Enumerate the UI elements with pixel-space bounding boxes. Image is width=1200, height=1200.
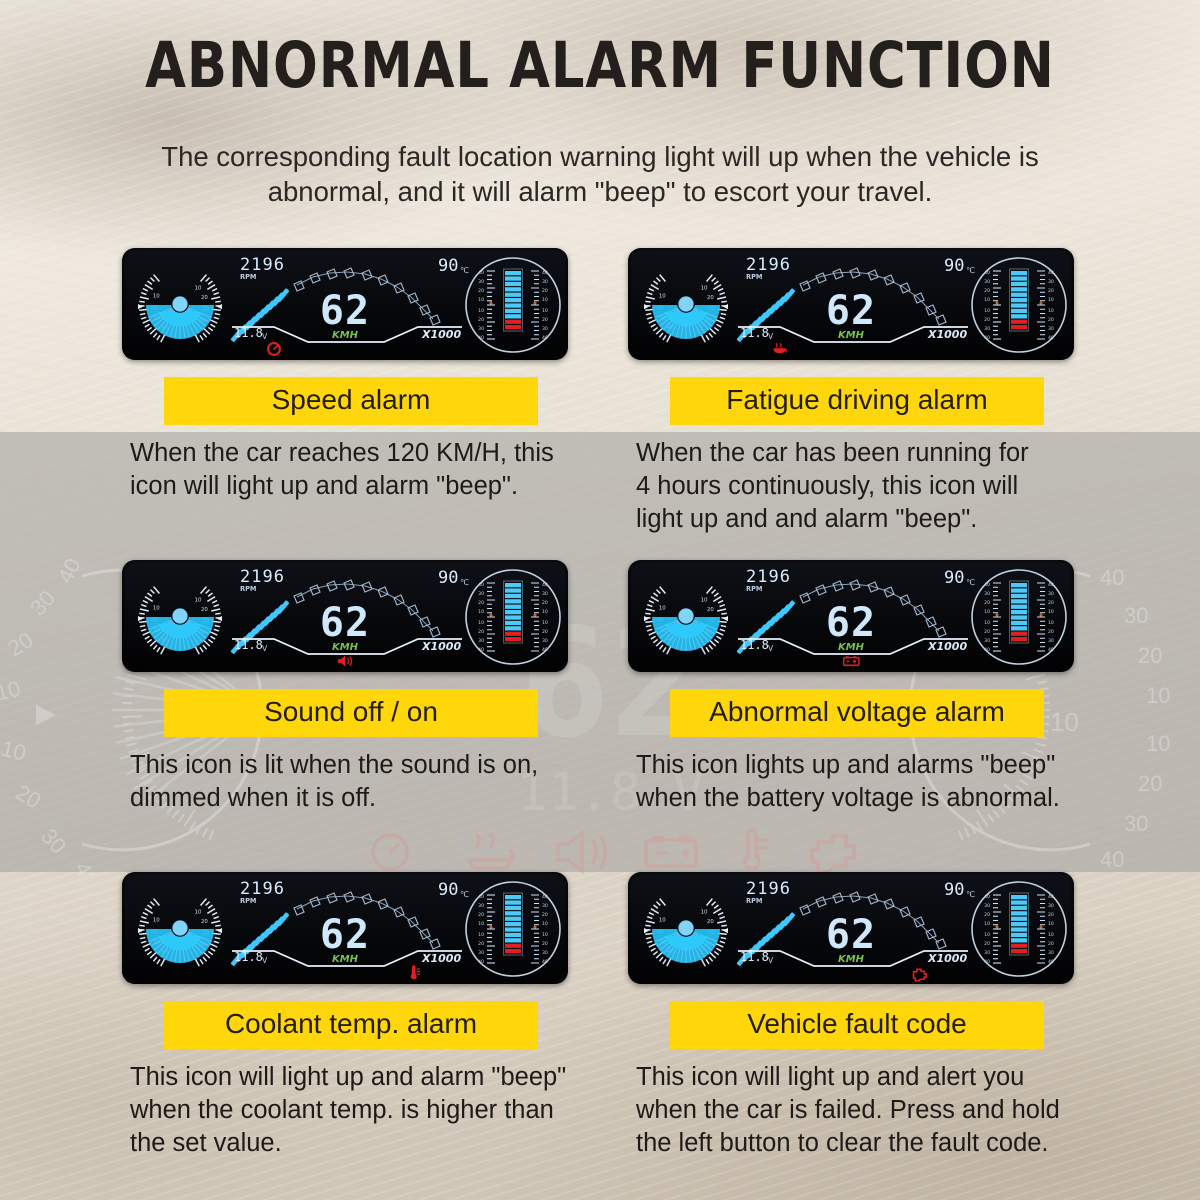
- svg-text:20: 20: [3, 627, 37, 661]
- svg-text:10: 10: [478, 609, 484, 615]
- hud-display-abnormal-voltage-alarm: 4030201010203040 40403030202010101010202…: [628, 560, 1074, 672]
- svg-text:30: 30: [478, 638, 484, 644]
- svg-text:30: 30: [984, 326, 990, 332]
- feature-caption-speed-alarm: When the car reaches 120 KM/H, this icon…: [130, 437, 592, 503]
- svg-text:40: 40: [984, 647, 990, 653]
- svg-text:20: 20: [1048, 288, 1054, 294]
- page-title: ABNORMAL ALARM FUNCTION: [42, 34, 1158, 97]
- svg-text:10: 10: [0, 736, 29, 766]
- svg-text:40: 40: [1100, 847, 1124, 872]
- svg-text:30: 30: [1048, 326, 1054, 332]
- svg-text:20: 20: [1138, 771, 1162, 796]
- hud-display-speed-alarm: 4030201010203040 40403030202010101010202…: [122, 248, 568, 360]
- svg-text:20: 20: [984, 317, 990, 323]
- svg-text:2196: 2196: [746, 879, 791, 899]
- infographic-page: 40 30 20 10 10 20 30 40 40 30 20 10 10 2…: [0, 0, 1200, 1200]
- page-subtitle: The corresponding fault location warning…: [110, 140, 1090, 209]
- svg-text:40: 40: [70, 858, 104, 875]
- svg-text:20: 20: [542, 912, 548, 918]
- svg-text:40: 40: [542, 582, 548, 588]
- feature-caption-abnormal-voltage-alarm: This icon lights up and alarms "beep" wh…: [636, 749, 1098, 815]
- svg-text:40: 40: [1048, 647, 1054, 653]
- svg-text:RPM: RPM: [240, 585, 256, 593]
- svg-text:40: 40: [1048, 894, 1054, 900]
- feature-label-speed-alarm: Speed alarm: [164, 377, 538, 425]
- svg-text:20: 20: [478, 317, 484, 323]
- hud-graphic: 4030201010203040 40403030202010101010202…: [122, 872, 568, 984]
- svg-text:10: 10: [701, 909, 708, 915]
- svg-text:10: 10: [1048, 308, 1054, 314]
- hud-display-sound-off-on: 4030201010203040 40403030202010101010202…: [122, 560, 568, 672]
- svg-text:30: 30: [542, 279, 548, 285]
- svg-text:X1000: X1000: [927, 328, 967, 341]
- svg-text:10: 10: [153, 293, 160, 299]
- hud-display-coolant-temp-alarm: 4030201010203040 40403030202010101010202…: [122, 872, 568, 984]
- feature-caption-sound-off-on: This icon is lit when the sound is on, d…: [130, 749, 592, 815]
- svg-text:10: 10: [478, 921, 484, 927]
- svg-text:20: 20: [201, 295, 208, 301]
- svg-text:V: V: [768, 332, 774, 341]
- svg-text:20: 20: [1048, 941, 1054, 947]
- svg-text:30: 30: [478, 591, 484, 597]
- svg-text:10: 10: [542, 609, 548, 615]
- svg-text:KMH: KMH: [332, 330, 359, 341]
- svg-text:10: 10: [984, 921, 990, 927]
- svg-text:V: V: [262, 956, 268, 965]
- svg-text:20: 20: [542, 600, 548, 606]
- hud-graphic: 4030201010203040 40403030202010101010202…: [628, 560, 1074, 672]
- svg-text:2196: 2196: [240, 255, 285, 275]
- svg-text:RPM: RPM: [746, 897, 762, 905]
- svg-text:20: 20: [542, 941, 548, 947]
- hud-display-fatigue-driving-alarm: 4030201010203040 40403030202010101010202…: [628, 248, 1074, 360]
- svg-text:30: 30: [542, 591, 548, 597]
- svg-text:10: 10: [659, 917, 666, 923]
- svg-text:10: 10: [659, 605, 666, 611]
- hud-graphic: 4030201010203040 40403030202010101010202…: [628, 872, 1074, 984]
- svg-text:10: 10: [0, 676, 23, 706]
- svg-text:30: 30: [25, 585, 60, 620]
- svg-text:40: 40: [478, 582, 484, 588]
- svg-text:KMH: KMH: [838, 330, 865, 341]
- hud-graphic: 4030201010203040 40403030202010101010202…: [628, 248, 1074, 360]
- svg-text:40: 40: [542, 894, 548, 900]
- svg-text:11.8: 11.8: [234, 638, 263, 652]
- svg-text:40: 40: [984, 894, 990, 900]
- feature-card-speed-alarm: 4030201010203040 40403030202010101010202…: [122, 248, 622, 503]
- svg-text:KMH: KMH: [332, 642, 359, 653]
- svg-text:20: 20: [12, 780, 46, 814]
- svg-text:10: 10: [542, 308, 548, 314]
- svg-text:2196: 2196: [240, 567, 285, 587]
- svg-text:10: 10: [542, 620, 548, 626]
- svg-text:30: 30: [984, 638, 990, 644]
- hud-graphic: 4030201010203040 40403030202010101010202…: [122, 560, 568, 672]
- svg-text:30: 30: [984, 279, 990, 285]
- svg-text:40: 40: [1048, 335, 1054, 341]
- svg-text:20: 20: [478, 288, 484, 294]
- svg-text:62: 62: [320, 912, 370, 958]
- feature-label-fatigue-driving-alarm: Fatigue driving alarm: [670, 377, 1044, 425]
- svg-text:40: 40: [984, 335, 990, 341]
- svg-text:KMH: KMH: [838, 642, 865, 653]
- svg-text:℃: ℃: [460, 578, 469, 587]
- svg-text:℃: ℃: [460, 890, 469, 899]
- svg-text:10: 10: [984, 932, 990, 938]
- svg-text:40: 40: [542, 959, 548, 965]
- svg-text:10: 10: [984, 620, 990, 626]
- svg-text:40: 40: [1048, 582, 1054, 588]
- svg-text:20: 20: [984, 629, 990, 635]
- svg-text:10: 10: [701, 285, 708, 291]
- svg-text:20: 20: [478, 912, 484, 918]
- svg-text:2196: 2196: [746, 567, 791, 587]
- svg-text:10: 10: [984, 297, 990, 303]
- svg-text:RPM: RPM: [746, 585, 762, 593]
- svg-text:V: V: [262, 644, 268, 653]
- feature-card-abnormal-voltage-alarm: 4030201010203040 40403030202010101010202…: [628, 560, 1128, 815]
- feature-card-sound-off-on: 4030201010203040 40403030202010101010202…: [122, 560, 622, 815]
- warning-icons-watermark: [360, 826, 908, 878]
- svg-text:V: V: [262, 332, 268, 341]
- svg-text:30: 30: [1048, 638, 1054, 644]
- svg-text:30: 30: [1048, 591, 1054, 597]
- svg-text:30: 30: [478, 326, 484, 332]
- svg-text:℃: ℃: [966, 890, 975, 899]
- svg-text:20: 20: [984, 600, 990, 606]
- svg-text:62: 62: [320, 600, 370, 646]
- svg-text:X1000: X1000: [927, 952, 967, 965]
- svg-text:2196: 2196: [746, 255, 791, 275]
- svg-text:20: 20: [201, 607, 208, 613]
- svg-text:40: 40: [1048, 270, 1054, 276]
- svg-text:10: 10: [984, 609, 990, 615]
- svg-text:RPM: RPM: [746, 273, 762, 281]
- svg-text:10: 10: [1048, 609, 1054, 615]
- svg-text:10: 10: [478, 308, 484, 314]
- hud-display-vehicle-fault-code: 4030201010203040 40403030202010101010202…: [628, 872, 1074, 984]
- feature-label-coolant-temp-alarm: Coolant temp. alarm: [164, 1001, 538, 1049]
- svg-text:20: 20: [1048, 629, 1054, 635]
- svg-text:30: 30: [542, 326, 548, 332]
- svg-text:KMH: KMH: [332, 954, 359, 965]
- svg-text:20: 20: [1048, 317, 1054, 323]
- svg-text:40: 40: [52, 554, 86, 587]
- svg-text:RPM: RPM: [240, 897, 256, 905]
- svg-text:90: 90: [438, 256, 458, 276]
- svg-text:40: 40: [542, 335, 548, 341]
- svg-text:10: 10: [153, 917, 160, 923]
- svg-text:30: 30: [984, 591, 990, 597]
- svg-text:10: 10: [659, 293, 666, 299]
- svg-text:10: 10: [195, 909, 202, 915]
- svg-text:20: 20: [542, 629, 548, 635]
- svg-text:10: 10: [478, 620, 484, 626]
- svg-text:V: V: [768, 956, 774, 965]
- feature-caption-vehicle-fault-code: This icon will light up and alert you wh…: [636, 1061, 1098, 1160]
- svg-text:30: 30: [478, 279, 484, 285]
- feature-caption-coolant-temp-alarm: This icon will light up and alarm "beep"…: [130, 1061, 592, 1160]
- svg-text:90: 90: [438, 880, 458, 900]
- feature-label-abnormal-voltage-alarm: Abnormal voltage alarm: [670, 689, 1044, 737]
- svg-text:20: 20: [478, 629, 484, 635]
- svg-text:11.8: 11.8: [234, 950, 263, 964]
- svg-text:10: 10: [195, 597, 202, 603]
- svg-text:℃: ℃: [460, 266, 469, 275]
- svg-text:10: 10: [1146, 683, 1170, 708]
- svg-text:40: 40: [542, 647, 548, 653]
- svg-text:X1000: X1000: [421, 328, 461, 341]
- svg-text:10: 10: [1048, 921, 1054, 927]
- svg-text:20: 20: [478, 600, 484, 606]
- svg-text:V: V: [768, 644, 774, 653]
- svg-text:11.8: 11.8: [740, 638, 769, 652]
- feature-caption-fatigue-driving-alarm: When the car has been running for 4 hour…: [636, 437, 1098, 536]
- svg-text:90: 90: [944, 568, 964, 588]
- svg-text:30: 30: [984, 903, 990, 909]
- svg-text:62: 62: [826, 912, 876, 958]
- svg-text:20: 20: [984, 912, 990, 918]
- svg-text:20: 20: [542, 288, 548, 294]
- svg-text:20: 20: [201, 919, 208, 925]
- svg-text:40: 40: [542, 270, 548, 276]
- feature-label-sound-off-on: Sound off / on: [164, 689, 538, 737]
- svg-text:20: 20: [1048, 912, 1054, 918]
- svg-text:10: 10: [542, 297, 548, 303]
- svg-text:RPM: RPM: [240, 273, 256, 281]
- svg-text:40: 40: [984, 959, 990, 965]
- svg-text:40: 40: [478, 894, 484, 900]
- svg-text:10: 10: [701, 597, 708, 603]
- svg-text:10: 10: [984, 308, 990, 314]
- svg-text:KMH: KMH: [838, 954, 865, 965]
- feature-card-coolant-temp-alarm: 4030201010203040 40403030202010101010202…: [122, 872, 622, 1160]
- svg-text:20: 20: [1048, 600, 1054, 606]
- svg-text:90: 90: [438, 568, 458, 588]
- svg-text:X1000: X1000: [927, 640, 967, 653]
- feature-card-fatigue-driving-alarm: 4030201010203040 40403030202010101010202…: [628, 248, 1128, 536]
- svg-text:10: 10: [1146, 731, 1170, 756]
- svg-text:X1000: X1000: [421, 640, 461, 653]
- svg-text:10: 10: [478, 297, 484, 303]
- svg-text:40: 40: [1048, 959, 1054, 965]
- svg-text:30: 30: [542, 638, 548, 644]
- svg-text:62: 62: [320, 288, 370, 334]
- svg-text:40: 40: [478, 270, 484, 276]
- svg-text:20: 20: [1138, 643, 1162, 668]
- svg-text:10: 10: [153, 605, 160, 611]
- svg-text:90: 90: [944, 880, 964, 900]
- svg-text:10: 10: [1048, 932, 1054, 938]
- svg-text:℃: ℃: [966, 578, 975, 587]
- svg-text:30: 30: [478, 903, 484, 909]
- feature-card-vehicle-fault-code: 4030201010203040 40403030202010101010202…: [628, 872, 1128, 1160]
- svg-text:11.8: 11.8: [740, 950, 769, 964]
- svg-text:90: 90: [944, 256, 964, 276]
- svg-text:30: 30: [542, 903, 548, 909]
- svg-text:20: 20: [478, 941, 484, 947]
- svg-text:62: 62: [826, 600, 876, 646]
- svg-text:30: 30: [1048, 950, 1054, 956]
- svg-text:62: 62: [826, 288, 876, 334]
- svg-text:30: 30: [1048, 903, 1054, 909]
- svg-text:40: 40: [478, 335, 484, 341]
- svg-text:10: 10: [478, 932, 484, 938]
- svg-text:30: 30: [478, 950, 484, 956]
- svg-text:10: 10: [1048, 620, 1054, 626]
- svg-text:10: 10: [542, 932, 548, 938]
- svg-text:℃: ℃: [966, 266, 975, 275]
- svg-text:40: 40: [478, 959, 484, 965]
- svg-text:40: 40: [984, 270, 990, 276]
- svg-text:2196: 2196: [240, 879, 285, 899]
- svg-text:11.8: 11.8: [740, 326, 769, 340]
- svg-text:30: 30: [1048, 279, 1054, 285]
- svg-text:10: 10: [195, 285, 202, 291]
- svg-text:20: 20: [984, 288, 990, 294]
- svg-text:20: 20: [707, 607, 714, 613]
- svg-text:20: 20: [542, 317, 548, 323]
- svg-text:30: 30: [36, 824, 71, 859]
- svg-text:20: 20: [707, 919, 714, 925]
- feature-label-vehicle-fault-code: Vehicle fault code: [670, 1001, 1044, 1049]
- svg-text:10: 10: [1048, 297, 1054, 303]
- svg-text:30: 30: [984, 950, 990, 956]
- svg-text:11.8: 11.8: [234, 326, 263, 340]
- svg-text:10: 10: [542, 921, 548, 927]
- svg-text:40: 40: [984, 582, 990, 588]
- svg-text:20: 20: [707, 295, 714, 301]
- svg-text:40: 40: [478, 647, 484, 653]
- svg-text:30: 30: [542, 950, 548, 956]
- svg-text:20: 20: [984, 941, 990, 947]
- hud-graphic: 4030201010203040 40403030202010101010202…: [122, 248, 568, 360]
- svg-text:X1000: X1000: [421, 952, 461, 965]
